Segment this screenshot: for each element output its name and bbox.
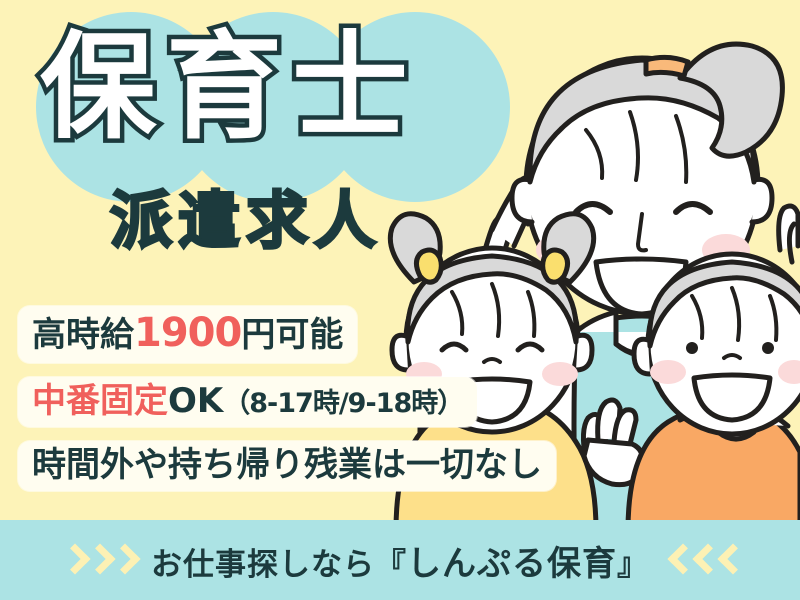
feature-item-shift: 中番固定OK（8-17時/9-18時） [18, 377, 477, 427]
chevron-left-icon [692, 543, 714, 577]
girl-ribbon [416, 250, 441, 282]
chevrons-left-pointing [667, 543, 739, 577]
girl-ribbon [543, 250, 568, 282]
shift-hours-note: （8-17時/9-18時） [223, 388, 463, 419]
wage-lead-text: 高時給 [32, 315, 134, 355]
hair-tie [646, 57, 688, 76]
footer-bar: お仕事探しなら『しんぷる保育』 [0, 520, 800, 600]
chevron-right-icon [86, 543, 108, 577]
feature-item-overtime: 時間外や持ち帰り残業は一切なし [18, 441, 556, 491]
footer-tagline: お仕事探しなら『しんぷる保育』 [151, 536, 649, 585]
wage-amount: 1900 [134, 310, 241, 356]
footer-lead-text: お仕事探しなら『 [151, 547, 407, 583]
page-subtitle: 派遣求人 [110, 190, 382, 252]
chevron-right-icon [61, 543, 83, 577]
chevron-left-icon [667, 543, 689, 577]
job-ad-banner: 保育士 派遣求人 高時給1900円可能 中番固定OK（8-17時/9-18時） … [0, 0, 800, 600]
chevron-right-icon [111, 543, 133, 577]
page-title: 保育士 [40, 30, 418, 146]
overtime-text: 時間外や持ち帰り残業は一切なし [32, 445, 542, 485]
shift-ok-text: OK [168, 381, 223, 421]
boy-eye [686, 342, 698, 354]
brand-name: しんぷる保育 [407, 544, 617, 584]
shift-highlight-text: 中番固定 [32, 381, 168, 421]
boy-cheek [650, 360, 686, 384]
chevron-left-icon [717, 543, 739, 577]
wage-tail-text: 円可能 [241, 315, 343, 355]
feature-item-wage: 高時給1900円可能 [18, 306, 357, 363]
boy-eye [762, 342, 774, 354]
footer-trail-text: 』 [617, 547, 649, 583]
feature-list: 高時給1900円可能 中番固定OK（8-17時/9-18時） 時間外や持ち帰り残… [18, 306, 556, 491]
chevrons-right-pointing [61, 543, 133, 577]
